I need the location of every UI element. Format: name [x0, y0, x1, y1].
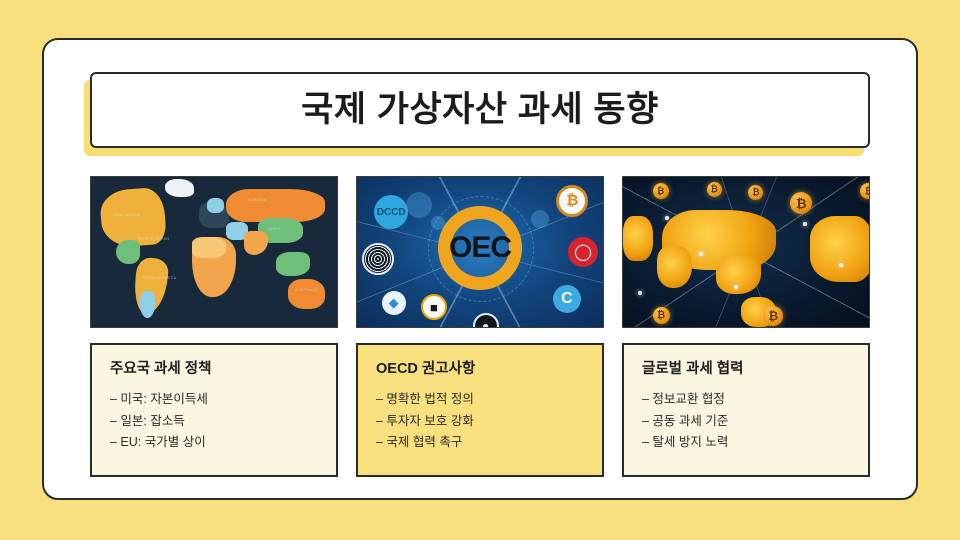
blob-3	[531, 210, 549, 228]
landmass-greenland	[165, 179, 195, 197]
map-label-1: PACIFIC OCEAN	[138, 237, 170, 241]
page-title: 국제 가상자산 과세 동향	[301, 91, 659, 130]
piggy-bank-icon: ■	[421, 294, 447, 320]
network-node-3	[638, 291, 642, 295]
red-token-icon: ◯	[568, 237, 598, 267]
image-oecd-crypto-hub: OEC DCCD ◆ ■ ₿ ◯ C ●	[356, 176, 604, 328]
gold-landmass-africa	[657, 246, 691, 288]
coin-dccd-icon: DCCD	[374, 195, 408, 229]
slide-root: 국제 가상자산 과세 동향 USA/CA	[0, 0, 960, 540]
content-card-row: 주요국 과세 정책 – 미국: 자본이득세 – 일본: 잡소득 – EU: 국가…	[90, 343, 870, 477]
map-label-4: CHINA	[268, 227, 281, 231]
content-card-oecd-recommendations: OECD 권고사항 – 명확한 법적 정의 – 투자자 보호 강화 – 국제 협…	[356, 343, 604, 477]
map-label-0: USA/CANADA	[113, 213, 139, 217]
network-node-6	[734, 285, 738, 289]
landmass-north-europe	[207, 198, 224, 213]
image-political-world-map: USA/CANADA PACIFIC OCEAN SOUTH AMERICA E…	[90, 176, 338, 328]
bitcoin-coin-icon-2: ₿	[707, 182, 722, 197]
political-world-map-graphic: USA/CANADA PACIFIC OCEAN SOUTH AMERICA E…	[91, 177, 337, 327]
bitcoin-coin-icon-1: ₿	[653, 183, 669, 199]
map-label-3: EURASIA	[248, 198, 266, 202]
card-title-global-cooperation: 글로벌 과세 협력	[642, 361, 852, 378]
image-row: USA/CANADA PACIFIC OCEAN SOUTH AMERICA E…	[90, 176, 870, 328]
landmass-southeast-asia	[276, 252, 310, 276]
list-item: – 투자자 보호 강화	[376, 411, 586, 433]
list-item: – 일본: 잡소득	[110, 411, 320, 433]
bitcoin-coin-icon-5: ₿	[860, 183, 870, 199]
content-card-global-cooperation: 글로벌 과세 협력 – 정보교환 협정 – 공동 과세 기준 – 탈세 방지 노…	[622, 343, 870, 477]
list-item: – 미국: 자본이득세	[110, 389, 320, 411]
list-item: – 공동 과세 기준	[642, 411, 852, 433]
map-label-2: SOUTH AMERICA	[143, 276, 177, 280]
card-list-oecd-recommendations: – 명확한 법적 정의 – 투자자 보호 강화 – 국제 협력 촉구	[376, 389, 586, 454]
bitcoin-coin-icon-3: ₿	[748, 185, 763, 200]
network-node-1	[665, 216, 669, 220]
golden-world-map-graphic: ₿ ₿ ₿ ₿ ₿ ₿ ₿	[623, 177, 869, 327]
content-card-major-countries: 주요국 과세 정책 – 미국: 자본이득세 – 일본: 잡소득 – EU: 국가…	[90, 343, 338, 477]
c-token-icon: C	[553, 285, 581, 313]
landmass-australia	[288, 279, 325, 309]
bitcoin-icon: ₿	[556, 185, 588, 217]
hub-center-label: OEC	[449, 231, 511, 265]
card-list-global-cooperation: – 정보교환 협정 – 공동 과세 기준 – 탈세 방지 노력	[642, 389, 852, 454]
card-title-oecd-recommendations: OECD 권고사항	[376, 361, 586, 378]
list-item: – 명확한 법적 정의	[376, 389, 586, 411]
landmass-central-america	[116, 240, 141, 264]
card-title-major-countries: 주요국 과세 정책	[110, 361, 320, 378]
ethereum-icon: ◆	[382, 291, 406, 315]
map-label-5: AUSTRALIA	[295, 288, 318, 292]
landmass-southern-cone	[140, 291, 155, 318]
hub-ring: OEC	[438, 206, 522, 290]
title-box: 국제 가상자산 과세 동향	[90, 72, 870, 148]
network-node-4	[803, 222, 807, 226]
blob-1	[406, 192, 432, 218]
gold-landmass-america-west	[623, 216, 653, 261]
gold-landmass-north-america	[810, 216, 870, 282]
bitcoin-coin-icon-7: ₿	[763, 306, 783, 326]
card-list-major-countries: – 미국: 자본이득세 – 일본: 잡소득 – EU: 국가별 상이	[110, 389, 320, 454]
image-golden-network-map: ₿ ₿ ₿ ₿ ₿ ₿ ₿	[622, 176, 870, 328]
bitcoin-coin-icon-6: ₿	[653, 307, 670, 324]
list-item: – 정보교환 협정	[642, 389, 852, 411]
oecd-hub-graphic: OEC DCCD ◆ ■ ₿ ◯ C ●	[357, 177, 603, 327]
gold-landmass-southeast-asia	[716, 255, 760, 294]
radar-icon	[362, 243, 394, 275]
list-item: – EU: 국가별 상이	[110, 432, 320, 454]
landmass-north-africa	[192, 237, 226, 258]
list-item: – 탈세 방지 노력	[642, 432, 852, 454]
list-item: – 국제 협력 촉구	[376, 432, 586, 454]
